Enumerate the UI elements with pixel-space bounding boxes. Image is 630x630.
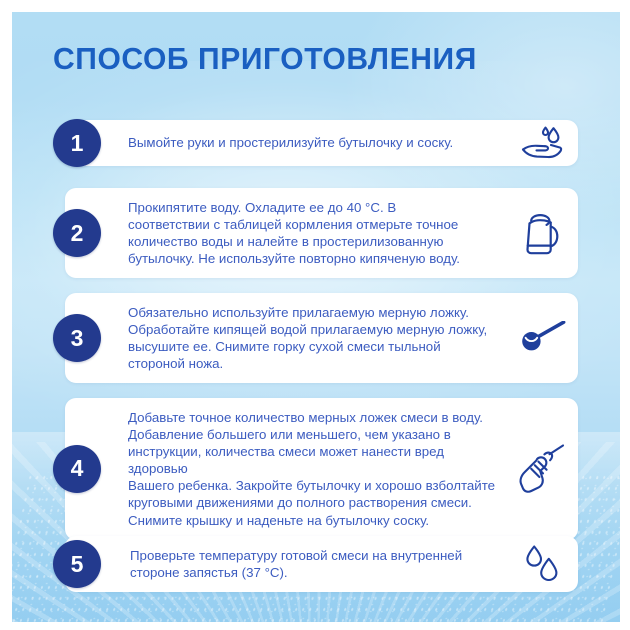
step-item: 3 Обязательно используйте прилагаемую ме…: [65, 293, 578, 383]
step-number-badge: 5: [53, 540, 101, 588]
step-item: 2 Прокипятите воду. Охладите ее до 40 °C…: [65, 188, 578, 278]
step-item: 1 Вымойте руки и простерилизуйте бутылоч…: [65, 120, 578, 166]
step-text: Проверьте температуру готовой смеси на в…: [65, 536, 506, 592]
kettle-icon: [506, 210, 578, 256]
water-drops-icon: [506, 544, 578, 584]
step-text: Обязательно используйте прилагаемую мерн…: [65, 293, 506, 383]
step-number-badge: 4: [53, 445, 101, 493]
instruction-panel: СПОСОБ ПРИГОТОВЛЕНИЯ 1 Вымойте руки и пр…: [12, 12, 620, 622]
step-item: 5 Проверьте температуру готовой смеси на…: [65, 536, 578, 592]
step-number-badge: 3: [53, 314, 101, 362]
step-item: 4 Добавьте точное количество мерных ложе…: [65, 398, 578, 540]
step-text: Вымойте руки и простерилизуйте бутылочку…: [65, 123, 506, 162]
measuring-scoop-icon: [506, 321, 578, 355]
step-card: 3 Обязательно используйте прилагаемую ме…: [65, 293, 578, 383]
page-title: СПОСОБ ПРИГОТОВЛЕНИЯ: [53, 44, 477, 75]
poster-frame: СПОСОБ ПРИГОТОВЛЕНИЯ 1 Вымойте руки и пр…: [0, 0, 630, 630]
baby-bottle-with-scoop-icon: [504, 441, 578, 497]
step-card: 4 Добавьте точное количество мерных ложе…: [65, 398, 578, 540]
step-number-badge: 2: [53, 209, 101, 257]
step-card: 2 Прокипятите воду. Охладите ее до 40 °C…: [65, 188, 578, 278]
step-number-badge: 1: [53, 119, 101, 167]
panel-content: СПОСОБ ПРИГОТОВЛЕНИЯ 1 Вымойте руки и пр…: [12, 12, 620, 622]
step-text: Прокипятите воду. Охладите ее до 40 °C. …: [65, 188, 506, 278]
step-text: Добавьте точное количество мерных ложек …: [65, 398, 504, 540]
step-card: 5 Проверьте температуру готовой смеси на…: [65, 536, 578, 592]
step-card: 1 Вымойте руки и простерилизуйте бутылоч…: [65, 120, 578, 166]
hand-washing-icon: [506, 126, 578, 160]
